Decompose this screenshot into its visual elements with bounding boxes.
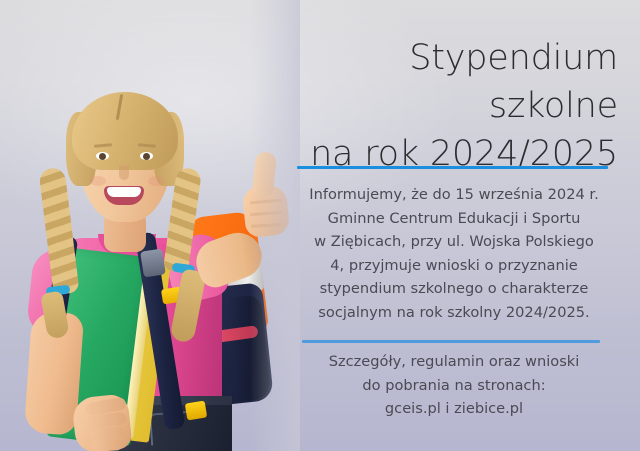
- left-pupil: [99, 153, 106, 160]
- body-line: 4, przyjmuje wnioski o przyznanie: [280, 254, 628, 278]
- body-line: Gminne Centrum Edukacji i Sportu: [280, 207, 628, 231]
- title-line-2: na rok 2024/2025: [272, 130, 618, 178]
- footer-line: do pobrania na stronach:: [280, 374, 628, 398]
- nose: [119, 166, 129, 180]
- divider-top: [297, 166, 608, 169]
- left-hand-finger: [92, 439, 123, 451]
- announcement-body: Informujemy, że do 15 września 2024 r. G…: [280, 183, 628, 324]
- schoolgirl-thumbs-up-photo: [0, 0, 300, 451]
- body-line: stypendium szkolnego o charakterze: [280, 277, 628, 301]
- title-line-1: Stypendium szkolne: [409, 38, 618, 126]
- announcement-footer: Szczegóły, regulamin oraz wnioski do pob…: [280, 350, 628, 421]
- footer-line: Szczegóły, regulamin oraz wnioski: [280, 350, 628, 374]
- footer-websites: gceis.pl i ziebice.pl: [280, 397, 628, 421]
- poster-canvas: Stypendium szkolne na rok 2024/2025 Info…: [0, 0, 640, 451]
- body-line: w Ziębicach, przy ul. Wojska Polskiego: [280, 230, 628, 254]
- right-cheek-blush: [148, 176, 164, 186]
- right-pupil: [143, 153, 150, 160]
- page-title: Stypendium szkolne na rok 2024/2025: [272, 34, 618, 178]
- text-column: Stypendium szkolne na rok 2024/2025 Info…: [272, 0, 640, 451]
- teeth: [107, 187, 141, 197]
- body-line: Informujemy, że do 15 września 2024 r.: [280, 183, 628, 207]
- left-cheek-blush: [90, 176, 106, 186]
- backpack-strap-tag: [140, 248, 166, 277]
- hair-top: [72, 92, 178, 170]
- divider-bottom: [302, 340, 600, 343]
- backpack-yellow-buckle: [185, 401, 207, 421]
- body-line: socjalnym na rok szkolny 2024/2025.: [280, 301, 628, 325]
